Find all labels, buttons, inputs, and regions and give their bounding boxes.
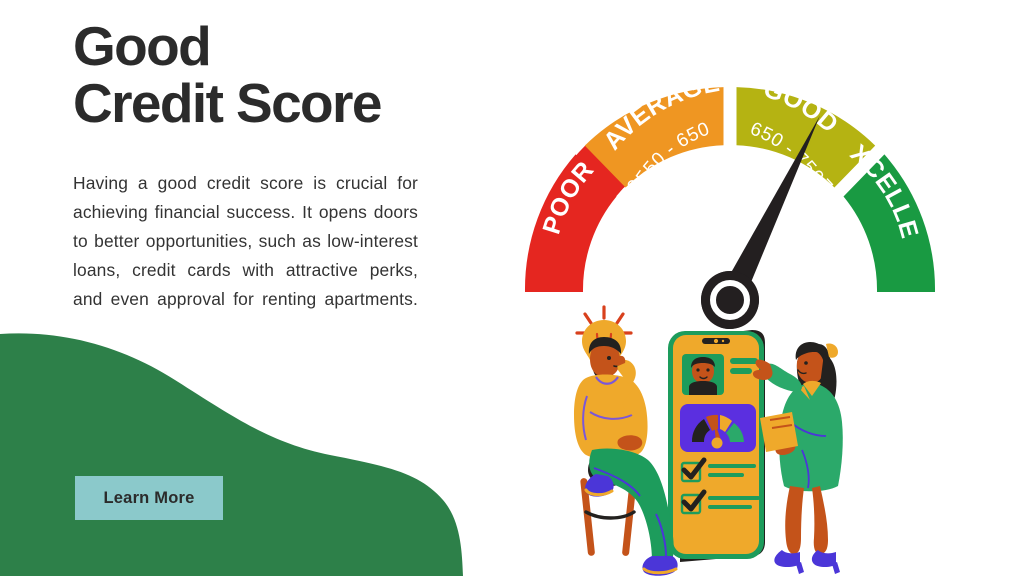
headline-line-1: Good	[73, 18, 433, 75]
clipboard	[760, 412, 798, 452]
phone-gauge-widget	[680, 404, 756, 452]
poster-canvas: Good Credit Score Having a good credit s…	[0, 0, 1024, 576]
page-title: Good Credit Score	[73, 18, 433, 132]
gauge-svg: POOR 300 - 550 AVERAGE 550 - 650 GOOD 65…	[470, 42, 990, 332]
smartphone-mockup	[668, 330, 765, 562]
headline-block: Good Credit Score	[73, 18, 433, 132]
credit-score-illustration	[556, 300, 916, 576]
body-paragraph: Having a good credit score is crucial fo…	[73, 169, 418, 343]
illustration-svg	[556, 300, 916, 576]
credit-score-gauge: POOR 300 - 550 AVERAGE 550 - 650 GOOD 65…	[470, 42, 990, 332]
gauge-hub	[701, 271, 759, 329]
headline-line-2: Credit Score	[73, 75, 433, 132]
learn-more-button[interactable]: Learn More	[75, 476, 223, 520]
standing-woman-figure	[753, 342, 843, 574]
